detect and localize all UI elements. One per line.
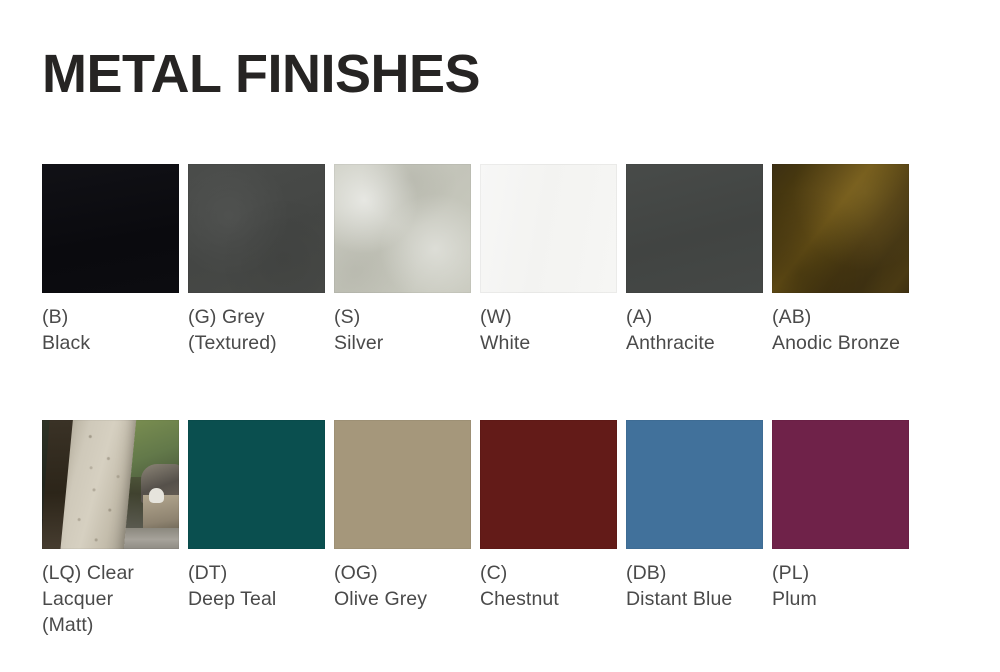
swatch-chip-white[interactable]: [480, 164, 617, 293]
swatch-cell-olive-grey[interactable]: (OG) Olive Grey: [334, 420, 471, 638]
finish-surface-grey-textured: [188, 164, 325, 293]
finish-surface-silver: [334, 164, 471, 293]
swatch-label-anodic-bronze: (AB) Anodic Bronze: [772, 304, 909, 356]
swatch-chip-plum[interactable]: [772, 420, 909, 549]
swatch-label-chestnut: (C) Chestnut: [480, 560, 617, 612]
swatch-cell-grey-textured[interactable]: (G) Grey (Textured): [188, 164, 325, 356]
finish-surface-distant-blue: [626, 420, 763, 549]
swatch-label-distant-blue: (DB) Distant Blue: [626, 560, 763, 612]
swatch-chip-silver[interactable]: [334, 164, 471, 293]
finish-surface-white: [480, 164, 617, 293]
swatch-cell-plum[interactable]: (PL) Plum: [772, 420, 909, 638]
swatch-cell-anthracite[interactable]: (A) Anthracite: [626, 164, 763, 356]
swatch-label-olive-grey: (OG) Olive Grey: [334, 560, 471, 612]
swatch-row-2: (LQ) Clear Lacquer (Matt) (DT) Deep Teal…: [42, 420, 958, 638]
swatch-chip-anodic-bronze[interactable]: [772, 164, 909, 293]
swatch-cell-white[interactable]: (W) White: [480, 164, 617, 356]
finish-surface-anthracite: [626, 164, 763, 293]
swatch-cell-anodic-bronze[interactable]: (AB) Anodic Bronze: [772, 164, 909, 356]
finish-surface-plum: [772, 420, 909, 549]
page-title: METAL FINISHES: [42, 44, 480, 104]
swatch-label-plum: (PL) Plum: [772, 560, 909, 612]
swatch-label-anthracite: (A) Anthracite: [626, 304, 763, 356]
finish-surface-chestnut: [480, 420, 617, 549]
metal-finishes-page: METAL FINISHES (B) Black (G) Grey (Textu…: [0, 0, 1000, 672]
swatch-label-white: (W) White: [480, 304, 617, 356]
swatch-chip-black[interactable]: [42, 164, 179, 293]
swatch-cell-distant-blue[interactable]: (DB) Distant Blue: [626, 420, 763, 638]
swatch-chip-anthracite[interactable]: [626, 164, 763, 293]
swatch-chip-distant-blue[interactable]: [626, 420, 763, 549]
finish-surface-olive-grey: [334, 420, 471, 549]
swatch-chip-deep-teal[interactable]: [188, 420, 325, 549]
swatch-cell-clear-lacquer[interactable]: (LQ) Clear Lacquer (Matt): [42, 420, 179, 638]
finish-surface-deep-teal: [188, 420, 325, 549]
swatch-chip-chestnut[interactable]: [480, 420, 617, 549]
finish-surface-clear-lacquer-photo: [42, 420, 179, 549]
swatch-label-deep-teal: (DT) Deep Teal: [188, 560, 325, 612]
swatch-label-clear-lacquer: (LQ) Clear Lacquer (Matt): [42, 560, 179, 638]
swatch-label-grey-textured: (G) Grey (Textured): [188, 304, 325, 356]
swatch-cell-deep-teal[interactable]: (DT) Deep Teal: [188, 420, 325, 638]
finish-surface-anodic-bronze: [772, 164, 909, 293]
photo-white-highlight: [149, 488, 164, 502]
photo-concrete-pillar: [59, 420, 137, 549]
swatch-chip-clear-lacquer[interactable]: [42, 420, 179, 549]
finish-surface-black: [42, 164, 179, 293]
swatch-row-1: (B) Black (G) Grey (Textured) (S) Silver…: [42, 164, 958, 356]
swatch-chip-olive-grey[interactable]: [334, 420, 471, 549]
swatch-cell-silver[interactable]: (S) Silver: [334, 164, 471, 356]
swatch-label-black: (B) Black: [42, 304, 179, 356]
swatch-label-silver: (S) Silver: [334, 304, 471, 356]
swatch-chip-grey-textured[interactable]: [188, 164, 325, 293]
swatch-cell-chestnut[interactable]: (C) Chestnut: [480, 420, 617, 638]
swatch-cell-black[interactable]: (B) Black: [42, 164, 179, 356]
